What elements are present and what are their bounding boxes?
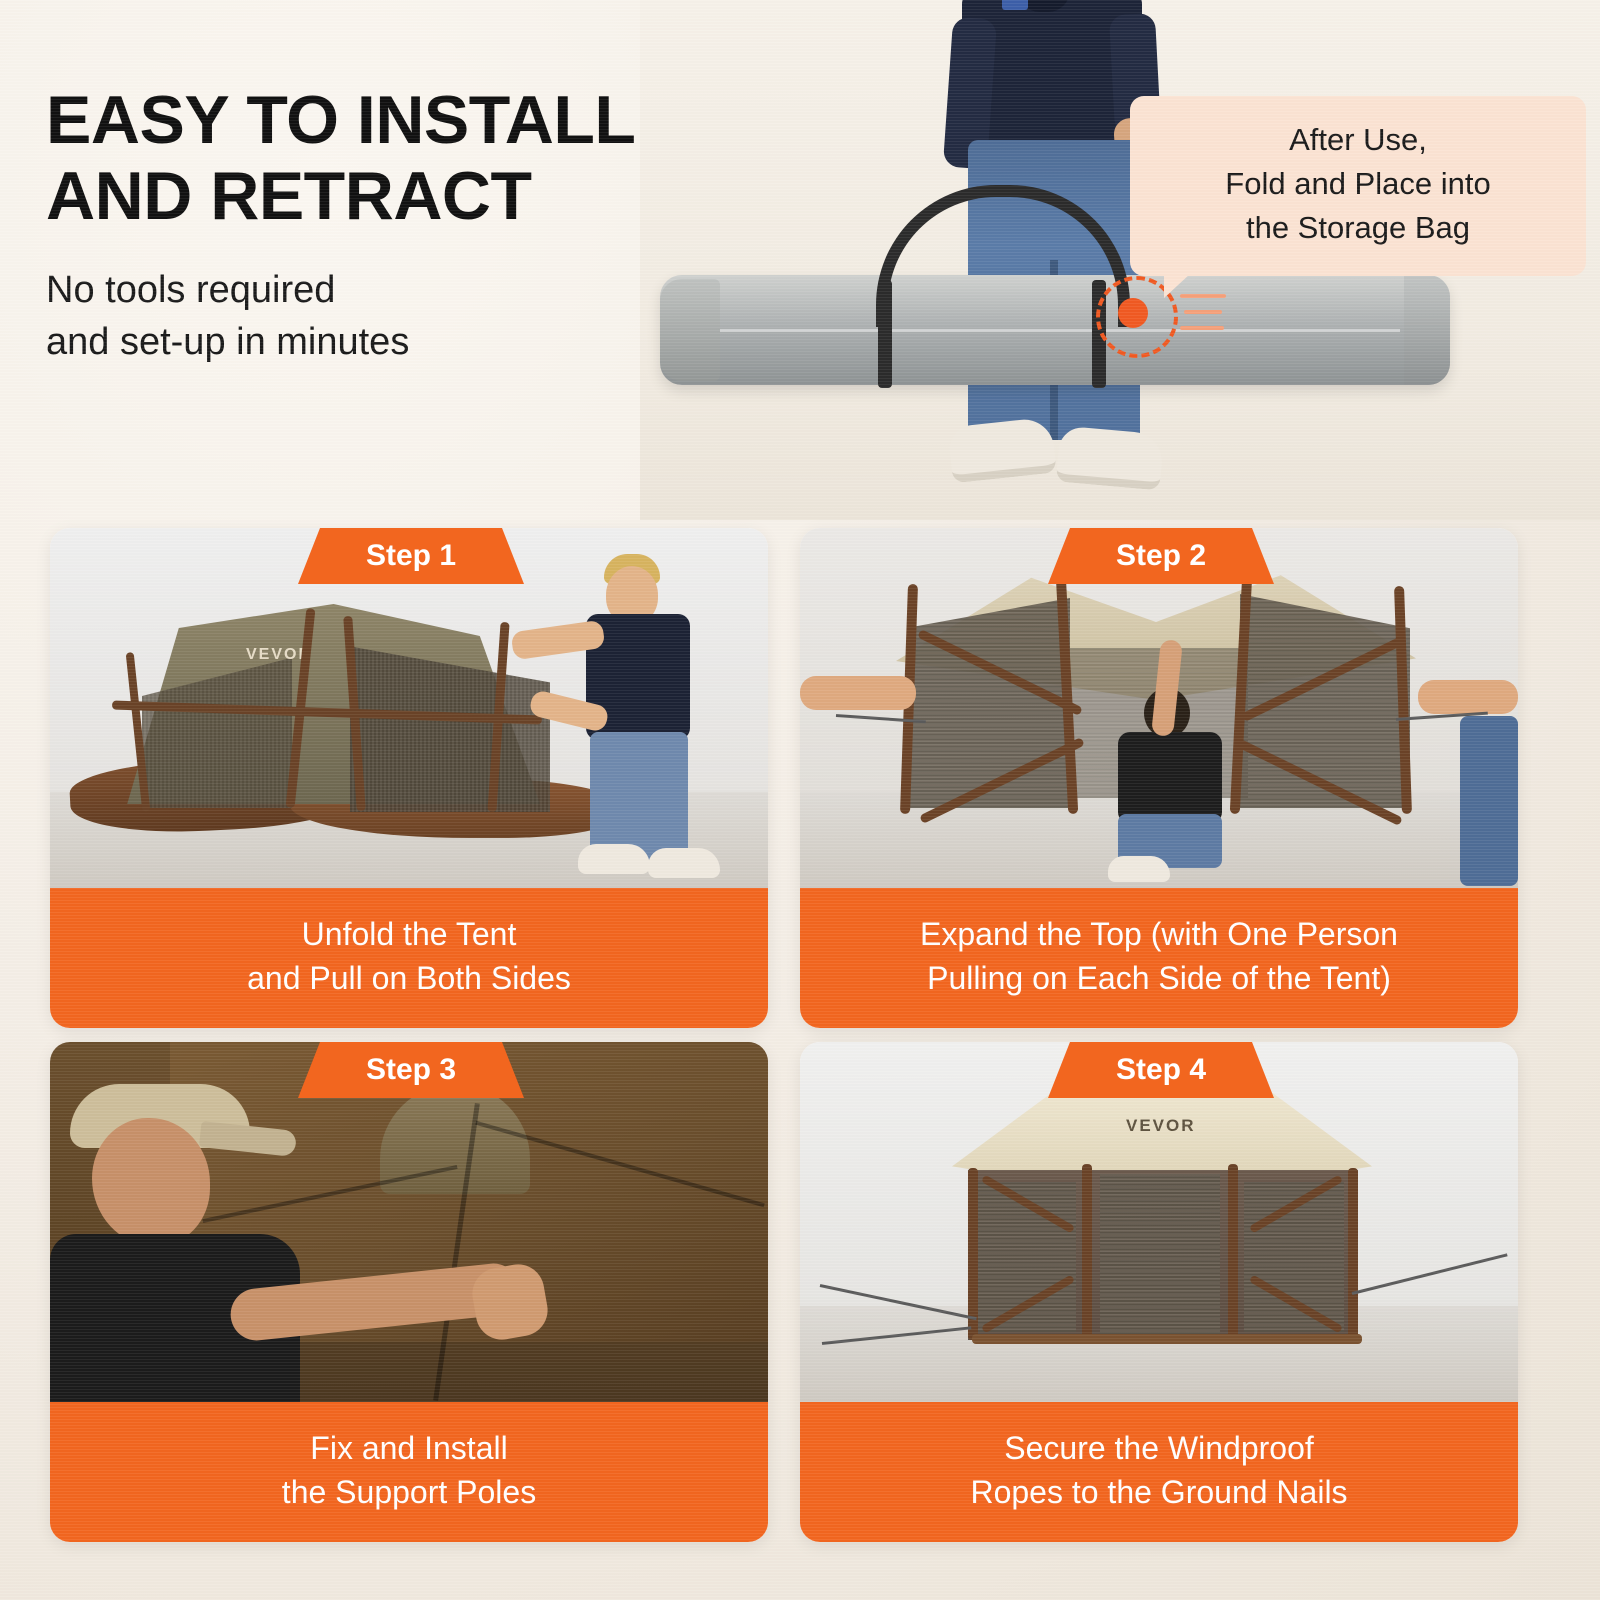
helper-left-arm <box>800 676 920 716</box>
person-pants <box>590 732 688 860</box>
helper-left-skin <box>800 676 916 710</box>
callout-line1: After Use, <box>1289 122 1427 157</box>
step-3-caption-line2: the Support Poles <box>282 1474 536 1510</box>
person-step-1 <box>574 548 734 878</box>
step-1-caption: Unfold the Tent and Pull on Both Sides <box>50 888 768 1028</box>
step-2-photo: Step 2 <box>800 528 1518 888</box>
person-right-shoe <box>1056 426 1164 491</box>
step-4-caption-line1: Secure the Windproof <box>1004 1430 1314 1466</box>
step-4-badge: Step 4 <box>1048 1042 1274 1098</box>
step-card-3: Step 3 Fix and Install the Support Poles <box>50 1042 768 1542</box>
step-2-caption-line1: Expand the Top (with One Person <box>920 916 1398 952</box>
step-3-badge: Step 3 <box>298 1042 524 1098</box>
zipper-pull-icon <box>1118 298 1148 328</box>
step-2-badge: Step 2 <box>1048 528 1274 584</box>
step-card-1: Step 1 VEVOR <box>50 528 768 1028</box>
mesh-panel-left <box>910 598 1070 808</box>
person-shoe-right <box>648 848 720 878</box>
step-3-caption: Fix and Install the Support Poles <box>50 1402 768 1542</box>
step-4-caption: Secure the Windproof Ropes to the Ground… <box>800 1402 1518 1542</box>
person-head-3 <box>92 1118 210 1246</box>
storage-bag-end <box>660 279 720 381</box>
bag-strap-left <box>878 280 892 388</box>
storage-bag-seam <box>720 329 1400 332</box>
gazebo-mesh-2 <box>1100 1174 1220 1334</box>
person-step-2 <box>1100 688 1240 858</box>
helper-right-skin <box>1418 680 1518 714</box>
product-infographic: EASY TO INSTALL AND RETRACT No tools req… <box>0 0 1600 1600</box>
gazebo-column-3 <box>1228 1164 1238 1340</box>
step-card-4: Step 4 VEVOR Secure the Windproof Ropes … <box>800 1042 1518 1542</box>
step-4-photo: Step 4 VEVOR <box>800 1042 1518 1402</box>
page-title-line2: AND RETRACT <box>46 158 532 234</box>
step-1-photo: Step 1 VEVOR <box>50 528 768 888</box>
step-4-caption-line2: Ropes to the Ground Nails <box>970 1474 1347 1510</box>
page-subtitle-line1: No tools required <box>46 269 335 311</box>
step-3-photo: Step 3 <box>50 1042 768 1402</box>
shirt-logo-icon <box>1002 0 1028 10</box>
step-1-caption-line1: Unfold the Tent <box>302 916 517 952</box>
step-3-caption-line1: Fix and Install <box>310 1430 507 1466</box>
gazebo-column-2 <box>1082 1164 1092 1340</box>
gazebo-base-skirt <box>972 1334 1362 1344</box>
page-title-line1: EASY TO INSTALL <box>46 82 635 158</box>
callout-line3: the Storage Bag <box>1246 210 1470 245</box>
helper-right-jeans <box>1460 716 1518 886</box>
person-left-shoe <box>947 417 1056 484</box>
step-1-caption-line2: and Pull on Both Sides <box>247 960 571 996</box>
callout-line2: Fold and Place into <box>1225 166 1490 201</box>
step-1-badge: Step 1 <box>298 528 524 584</box>
gazebo-column-1 <box>968 1168 978 1340</box>
step-card-2: Step 2 <box>800 528 1518 1028</box>
person-shoe-2 <box>1108 856 1170 882</box>
hero-photo: After Use, Fold and Place into the Stora… <box>640 0 1600 520</box>
person-shirt-2 <box>1118 732 1222 824</box>
page-subtitle-line2: and set-up in minutes <box>46 321 409 363</box>
windproof-rope-right <box>1352 1253 1508 1295</box>
storage-callout: After Use, Fold and Place into the Stora… <box>1130 96 1586 276</box>
person-shoe-left <box>578 844 650 874</box>
gazebo-brand-label: VEVOR <box>1126 1116 1196 1136</box>
gazebo-column-4 <box>1348 1168 1358 1340</box>
step-2-caption-line2: Pulling on Each Side of the Tent) <box>927 960 1391 996</box>
storage-bag-cap <box>1404 275 1450 385</box>
step-2-caption: Expand the Top (with One Person Pulling … <box>800 888 1518 1028</box>
